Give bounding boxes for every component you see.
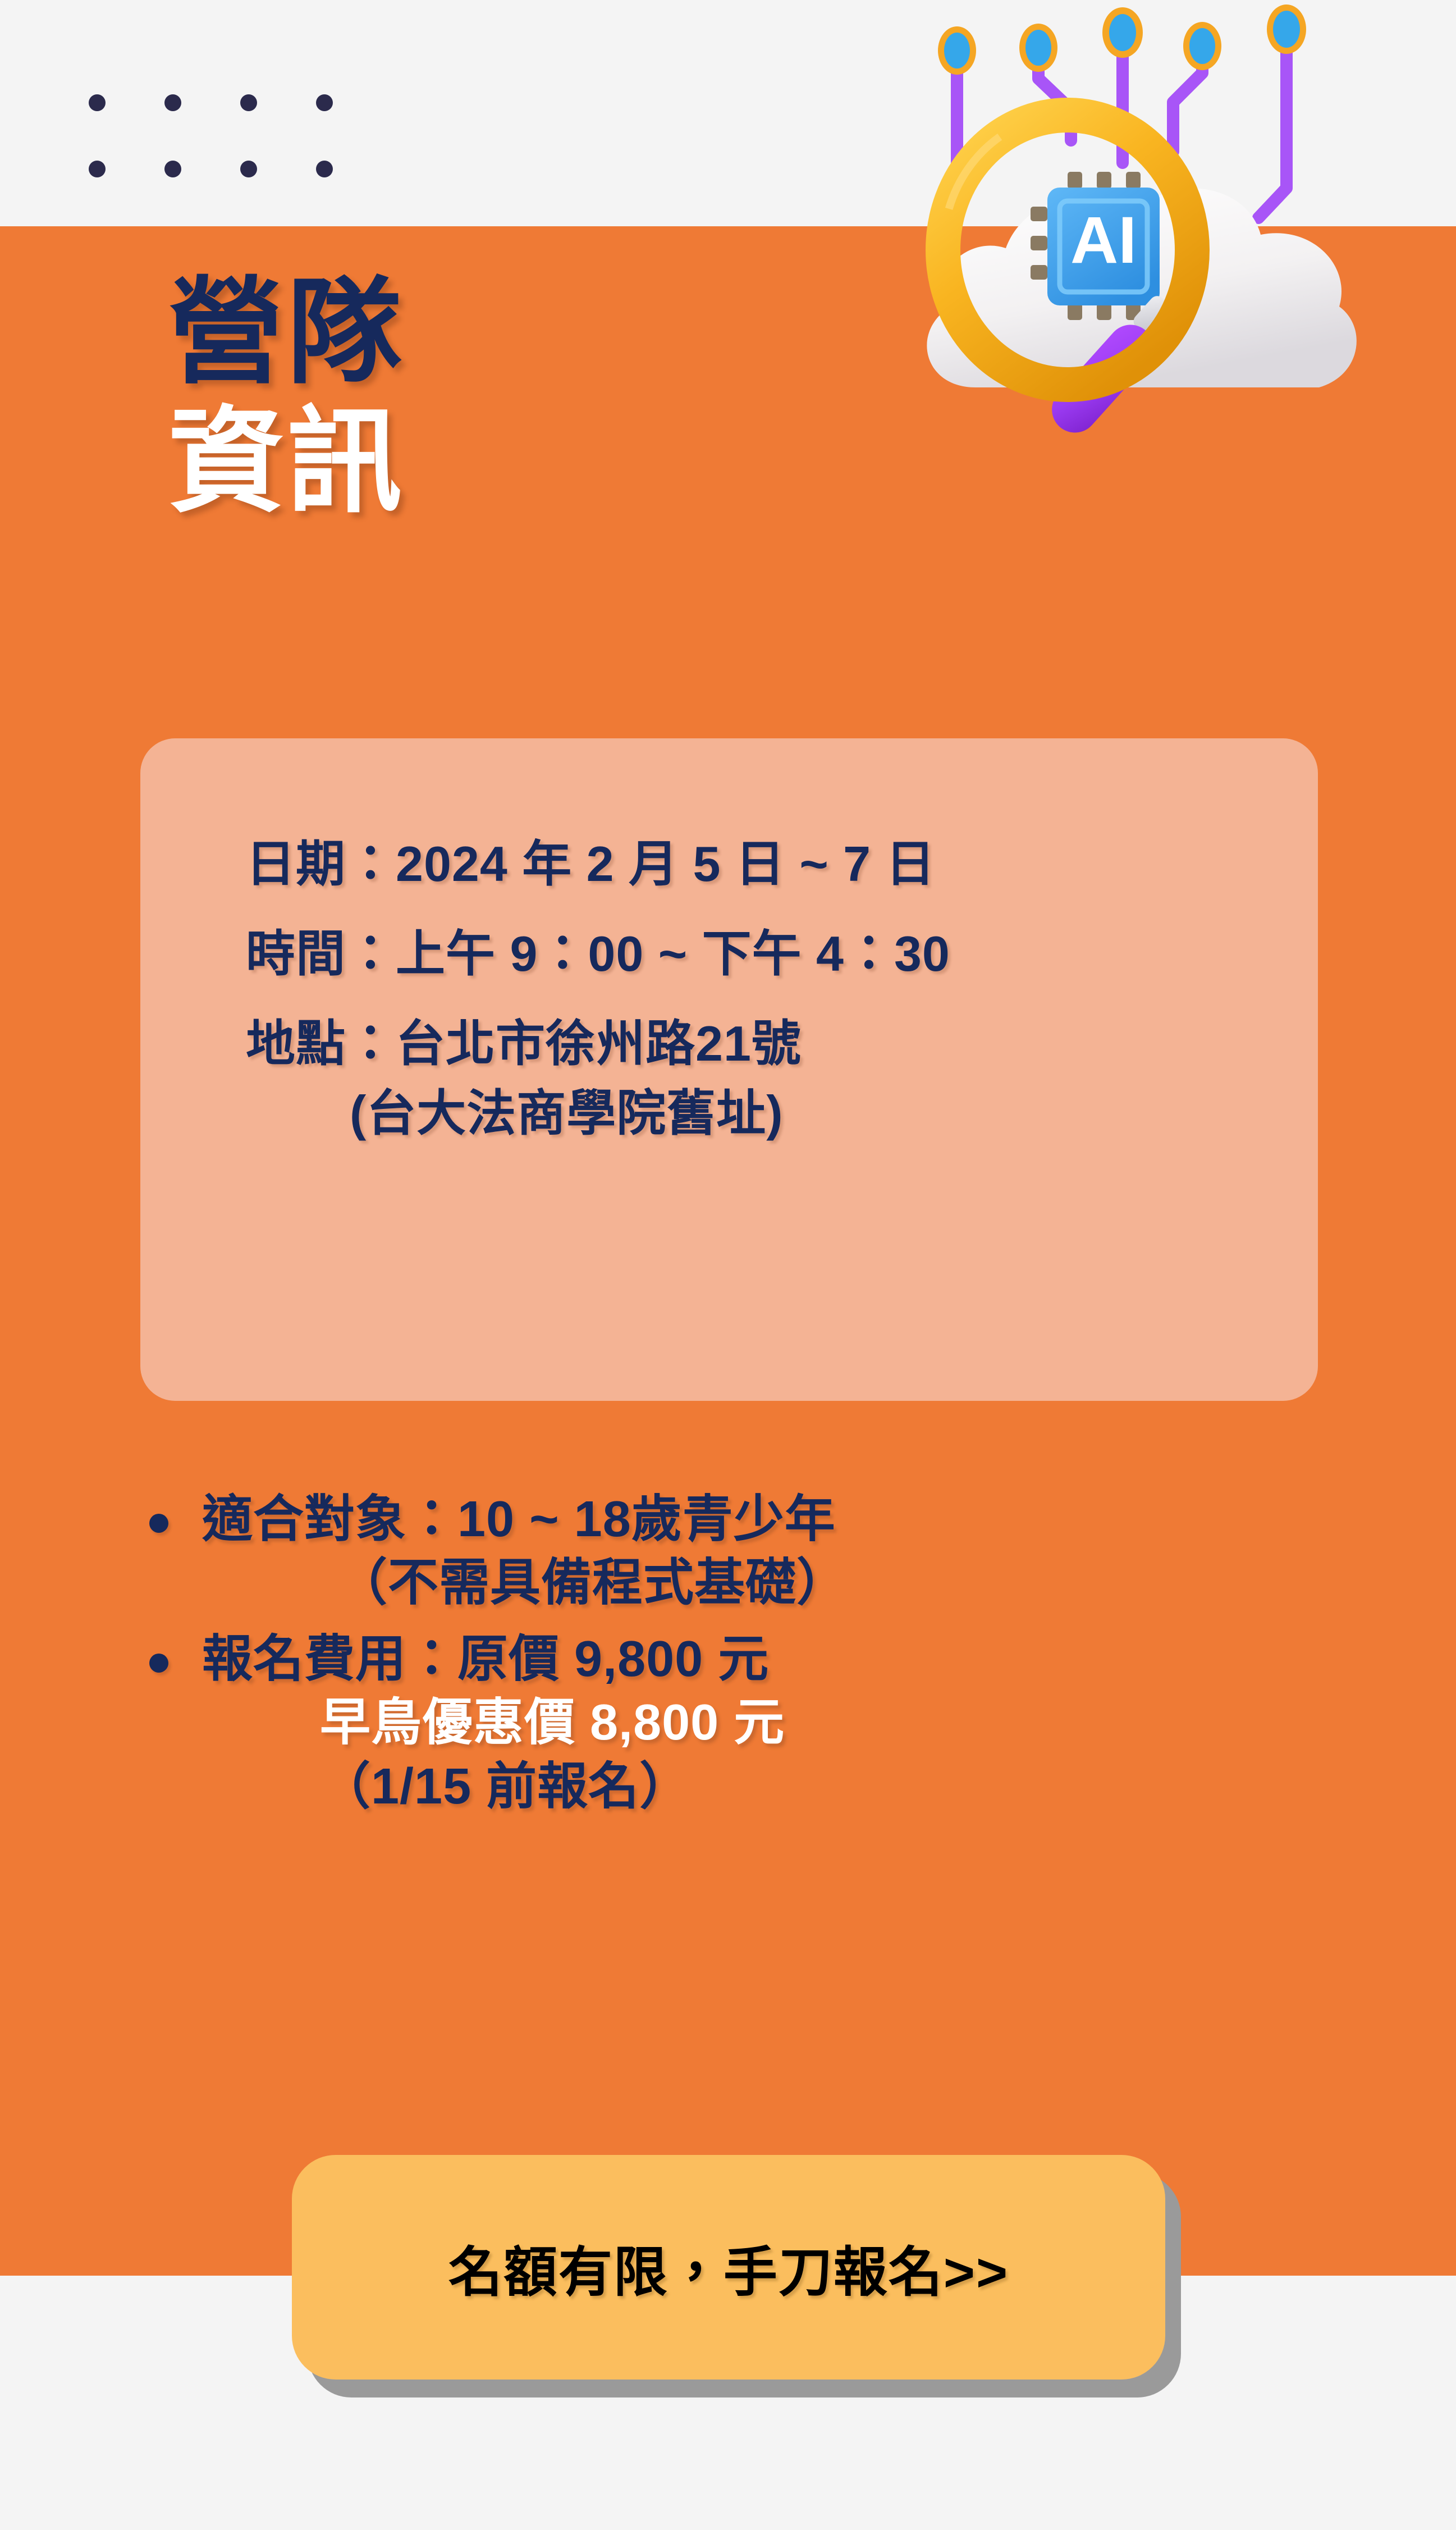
info-row-location-subtitle: (台大法商學院舊址) [350, 1089, 1295, 1138]
dot-decoration [164, 94, 181, 111]
poster-root: AI 營隊 資訊 日期：2024 年 2 月 5 日 ~ 7 日 時間：上午 9… [0, 0, 1456, 2530]
dot-decoration [89, 94, 106, 111]
register-button-label: 名額有限，手刀報名>> [448, 2228, 1009, 2307]
info-row-date: 日期：2024 年 2 月 5 日 ~ 7 日 [246, 839, 1295, 889]
camp-info-rows: 日期：2024 年 2 月 5 日 ~ 7 日 時間：上午 9：00 ~ 下午 … [246, 839, 1295, 1138]
list-item: 適合對象：10 ~ 18歲青少年 （不需具備程式基礎） [140, 1488, 1347, 1615]
price-earlybird-deadline: （1/15 前報名） [320, 1755, 1347, 1819]
cta-container: 名額有限，手刀報名>> [292, 2155, 1165, 2380]
dot-decoration [316, 94, 333, 111]
ai-magnifier-cloud-illustration: AI [859, 0, 1426, 483]
camp-details-list: 適合對象：10 ~ 18歲青少年 （不需具備程式基礎） 報名費用：原價 9,80… [140, 1488, 1347, 1831]
info-row-time: 時間：上午 9：00 ~ 下午 4：30 [246, 929, 1295, 979]
bullet-dot-icon [149, 1654, 168, 1673]
dot-decoration [240, 94, 257, 111]
price-regular-text: 報名費用：原價 9,800 元 [202, 1628, 1347, 1691]
bullet-dot-icon [149, 1514, 168, 1533]
price-earlybird-text: 早鳥優惠價 8,800 元 [320, 1691, 1347, 1755]
audience-text: 適合對象：10 ~ 18歲青少年 [202, 1488, 1347, 1551]
audience-note: （不需具備程式基礎） [337, 1551, 1347, 1615]
page-title-line-1: 營隊 [168, 268, 405, 398]
dot-decoration [316, 161, 333, 177]
page-title-line-2: 資訊 [168, 398, 405, 527]
dot-decoration [164, 161, 181, 177]
info-row-location: 地點：台北市徐州路21號 [246, 1019, 1295, 1068]
dot-grid-decoration [89, 94, 392, 227]
svg-text:AI: AI [1070, 203, 1137, 277]
register-button[interactable]: 名額有限，手刀報名>> [292, 2155, 1165, 2380]
camp-info-card: 日期：2024 年 2 月 5 日 ~ 7 日 時間：上午 9：00 ~ 下午 … [140, 738, 1318, 1401]
list-item: 報名費用：原價 9,800 元 早鳥優惠價 8,800 元 （1/15 前報名） [140, 1628, 1347, 1819]
dot-decoration [89, 161, 106, 177]
page-title: 營隊 資訊 [168, 268, 405, 526]
dot-decoration [240, 161, 257, 177]
